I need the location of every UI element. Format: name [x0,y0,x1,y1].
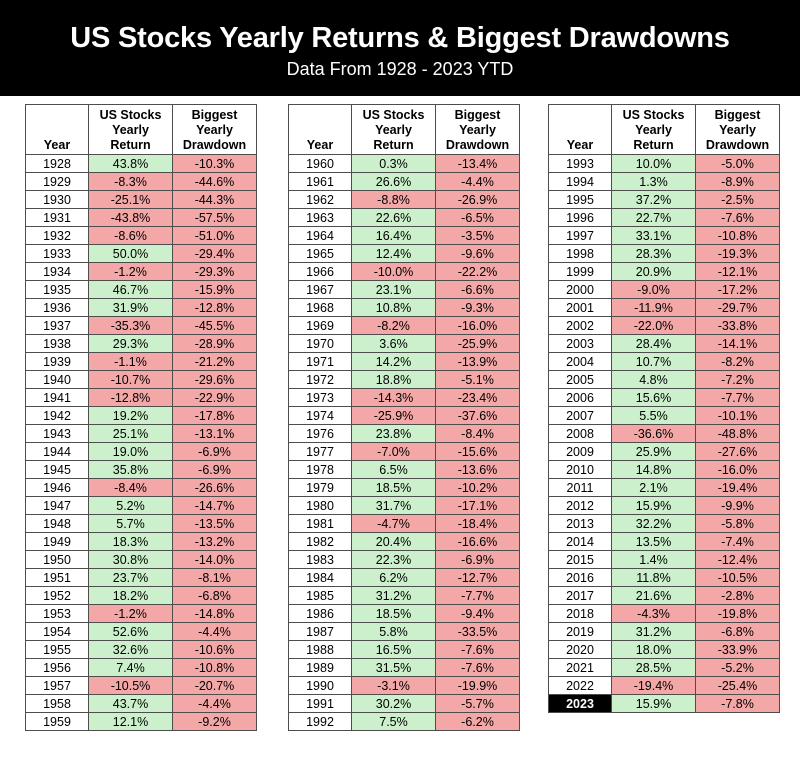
table-row: 19786.5%-13.6% [289,461,520,479]
table-row: 1932-8.6%-51.0% [26,227,257,245]
cell-yearly-return: -8.6% [89,227,173,245]
table-row: 20112.1%-19.4% [549,479,780,497]
cell-biggest-drawdown: -13.9% [436,353,520,371]
cell-year: 2005 [549,371,612,389]
cell-yearly-return: 43.8% [89,155,173,173]
table-row: 20151.4%-12.4% [549,551,780,569]
cell-yearly-return: 16.5% [352,641,436,659]
cell-year: 2013 [549,515,612,533]
table-row: 200925.9%-27.6% [549,443,780,461]
table-row: 1946-8.4%-26.6% [26,479,257,497]
cell-biggest-drawdown: -10.2% [436,479,520,497]
cell-biggest-drawdown: -6.8% [173,587,257,605]
cell-year: 1945 [26,461,89,479]
cell-biggest-drawdown: -12.4% [696,551,780,569]
column-header-biggest-drawdown: BiggestYearlyDrawdown [173,105,257,155]
table-row: 19941.3%-8.9% [549,173,780,191]
returns-table-3: YearUS StocksYearlyReturnBiggestYearlyDr… [548,104,780,713]
cell-biggest-drawdown: -5.0% [696,155,780,173]
cell-yearly-return: 32.2% [612,515,696,533]
cell-biggest-drawdown: -51.0% [173,227,257,245]
cell-year: 1965 [289,245,352,263]
cell-year: 1988 [289,641,352,659]
cell-biggest-drawdown: -8.1% [173,569,257,587]
cell-yearly-return: 31.7% [352,497,436,515]
cell-yearly-return: -3.1% [352,677,436,695]
cell-biggest-drawdown: -19.9% [436,677,520,695]
table-row: 195218.2%-6.8% [26,587,257,605]
cell-year: 2020 [549,641,612,659]
cell-yearly-return: 31.9% [89,299,173,317]
table-row: 19927.5%-6.2% [289,713,520,731]
cell-year: 1997 [549,227,612,245]
table-row: 196126.6%-4.4% [289,173,520,191]
cell-biggest-drawdown: -33.5% [436,623,520,641]
cell-year: 1985 [289,587,352,605]
column-header-yearly-return: US StocksYearlyReturn [89,105,173,155]
table-row: 193631.9%-12.8% [26,299,257,317]
cell-year: 1974 [289,407,352,425]
table-header-row: YearUS StocksYearlyReturnBiggestYearlyDr… [289,105,520,155]
cell-biggest-drawdown: -8.9% [696,173,780,191]
table-row: 1941-12.8%-22.9% [26,389,257,407]
cell-biggest-drawdown: -13.5% [173,515,257,533]
table-row: 197114.2%-13.9% [289,353,520,371]
cell-biggest-drawdown: -14.8% [173,605,257,623]
cell-yearly-return: 10.0% [612,155,696,173]
cell-yearly-return: -1.2% [89,605,173,623]
cell-year: 1972 [289,371,352,389]
cell-biggest-drawdown: -23.4% [436,389,520,407]
table-row: 195452.6%-4.4% [26,623,257,641]
cell-year: 1948 [26,515,89,533]
header-line-1: US Stocks [623,108,685,122]
header-line-2: Yearly [635,123,672,137]
cell-year: 1944 [26,443,89,461]
cell-biggest-drawdown: -10.8% [696,227,780,245]
table-row: 195123.7%-8.1% [26,569,257,587]
table-row: 201215.9%-9.9% [549,497,780,515]
cell-year: 1973 [289,389,352,407]
cell-yearly-return: 23.7% [89,569,173,587]
cell-yearly-return: 10.8% [352,299,436,317]
header-line-3: Drawdown [446,138,509,152]
cell-biggest-drawdown: -44.6% [173,173,257,191]
cell-yearly-return: 18.3% [89,533,173,551]
table-row: 194918.3%-13.2% [26,533,257,551]
table-row: 195912.1%-9.2% [26,713,257,731]
cell-biggest-drawdown: -10.1% [696,407,780,425]
cell-biggest-drawdown: -13.6% [436,461,520,479]
table-row: 2018-4.3%-19.8% [549,605,780,623]
cell-yearly-return: 5.2% [89,497,173,515]
returns-table-1: YearUS StocksYearlyReturnBiggestYearlyDr… [25,104,257,731]
cell-yearly-return: 33.1% [612,227,696,245]
cell-yearly-return: 0.3% [352,155,436,173]
cell-biggest-drawdown: -16.0% [436,317,520,335]
table-row: 19846.2%-12.7% [289,569,520,587]
table-row: 19485.7%-13.5% [26,515,257,533]
table-row: 1973-14.3%-23.4% [289,389,520,407]
table-row: 199622.7%-7.6% [549,209,780,227]
cell-year: 1959 [26,713,89,731]
table-row: 201721.6%-2.8% [549,587,780,605]
header-banner: US Stocks Yearly Returns & Biggest Drawd… [0,0,800,96]
cell-yearly-return: 25.1% [89,425,173,443]
cell-biggest-drawdown: -3.5% [436,227,520,245]
cell-yearly-return: 22.7% [612,209,696,227]
cell-yearly-return: 26.6% [352,173,436,191]
cell-yearly-return: 52.6% [89,623,173,641]
table-row: 198531.2%-7.7% [289,587,520,605]
table-row: 199828.3%-19.3% [549,245,780,263]
table-row: 2002-22.0%-33.8% [549,317,780,335]
table-header-row: YearUS StocksYearlyReturnBiggestYearlyDr… [26,105,257,155]
cell-year: 1943 [26,425,89,443]
cell-yearly-return: 1.3% [612,173,696,191]
table-row: 1940-10.7%-29.6% [26,371,257,389]
cell-biggest-drawdown: -5.1% [436,371,520,389]
table-row: 194535.8%-6.9% [26,461,257,479]
table-row: 1953-1.2%-14.8% [26,605,257,623]
cell-yearly-return: 25.9% [612,443,696,461]
cell-yearly-return: -8.2% [352,317,436,335]
cell-yearly-return: 31.5% [352,659,436,677]
cell-yearly-return: 20.9% [612,263,696,281]
cell-yearly-return: 21.6% [612,587,696,605]
table-row: 195843.7%-4.4% [26,695,257,713]
cell-year: 1960 [289,155,352,173]
cell-year: 1934 [26,263,89,281]
cell-year: 1984 [289,569,352,587]
cell-year: 2009 [549,443,612,461]
table-row: 201931.2%-6.8% [549,623,780,641]
cell-biggest-drawdown: -14.7% [173,497,257,515]
cell-year: 1982 [289,533,352,551]
cell-year: 2002 [549,317,612,335]
cell-biggest-drawdown: -9.6% [436,245,520,263]
cell-yearly-return: 18.0% [612,641,696,659]
cell-biggest-drawdown: -9.2% [173,713,257,731]
cell-year: 1983 [289,551,352,569]
header-line-3: Return [633,138,673,152]
cell-year: 1941 [26,389,89,407]
cell-yearly-return: 31.2% [352,587,436,605]
cell-yearly-return: -10.0% [352,263,436,281]
cell-biggest-drawdown: -17.8% [173,407,257,425]
cell-year: 1990 [289,677,352,695]
column-header-biggest-drawdown: BiggestYearlyDrawdown [436,105,520,155]
cell-yearly-return: 5.5% [612,407,696,425]
cell-yearly-return: 6.2% [352,569,436,587]
table-row: 1931-43.8%-57.5% [26,209,257,227]
table-row: 19703.6%-25.9% [289,335,520,353]
cell-year: 2004 [549,353,612,371]
cell-year: 1949 [26,533,89,551]
cell-year: 2007 [549,407,612,425]
cell-biggest-drawdown: -26.6% [173,479,257,497]
cell-biggest-drawdown: -16.6% [436,533,520,551]
cell-biggest-drawdown: -8.4% [436,425,520,443]
cell-year: 1936 [26,299,89,317]
cell-yearly-return: 28.5% [612,659,696,677]
cell-yearly-return: 22.6% [352,209,436,227]
table-row: 193546.7%-15.9% [26,281,257,299]
cell-year: 1978 [289,461,352,479]
cell-year: 2012 [549,497,612,515]
table-row: 19567.4%-10.8% [26,659,257,677]
cell-biggest-drawdown: -6.6% [436,281,520,299]
cell-yearly-return: 43.7% [89,695,173,713]
cell-biggest-drawdown: -10.8% [173,659,257,677]
cell-yearly-return: -14.3% [352,389,436,407]
table-row: 2008-36.6%-48.8% [549,425,780,443]
table-row: 198618.5%-9.4% [289,605,520,623]
table-row: 19875.8%-33.5% [289,623,520,641]
table-row: 196810.8%-9.3% [289,299,520,317]
table-row: 193829.3%-28.9% [26,335,257,353]
cell-year: 1971 [289,353,352,371]
header-line-1: Biggest [192,108,238,122]
header-line-2: Yearly [196,123,233,137]
cell-biggest-drawdown: -7.6% [436,641,520,659]
cell-biggest-drawdown: -17.2% [696,281,780,299]
cell-yearly-return: -36.6% [612,425,696,443]
table-row: 196416.4%-3.5% [289,227,520,245]
cell-year: 1987 [289,623,352,641]
cell-biggest-drawdown: -15.9% [173,281,257,299]
table-row: 197218.8%-5.1% [289,371,520,389]
cell-year: 2003 [549,335,612,353]
cell-biggest-drawdown: -13.2% [173,533,257,551]
cell-biggest-drawdown: -6.9% [173,443,257,461]
cell-year: 1937 [26,317,89,335]
cell-yearly-return: 22.3% [352,551,436,569]
cell-yearly-return: 30.8% [89,551,173,569]
cell-biggest-drawdown: -28.9% [173,335,257,353]
cell-year: 1981 [289,515,352,533]
cell-biggest-drawdown: -10.6% [173,641,257,659]
cell-yearly-return: 18.5% [352,605,436,623]
cell-year: 2015 [549,551,612,569]
table-row: 194419.0%-6.9% [26,443,257,461]
cell-yearly-return: 37.2% [612,191,696,209]
cell-yearly-return: -35.3% [89,317,173,335]
cell-biggest-drawdown: -13.4% [436,155,520,173]
table-row: 1974-25.9%-37.6% [289,407,520,425]
cell-yearly-return: 28.4% [612,335,696,353]
cell-biggest-drawdown: -7.6% [696,209,780,227]
table-row: 201611.8%-10.5% [549,569,780,587]
cell-year: 1929 [26,173,89,191]
table-row: 20054.8%-7.2% [549,371,780,389]
cell-year: 1953 [26,605,89,623]
cell-biggest-drawdown: -29.7% [696,299,780,317]
cell-biggest-drawdown: -29.4% [173,245,257,263]
cell-year: 1993 [549,155,612,173]
header-line-1: US Stocks [363,108,425,122]
table-row: 1930-25.1%-44.3% [26,191,257,209]
cell-yearly-return: 15.9% [612,497,696,515]
cell-year: 1996 [549,209,612,227]
table-row: 198322.3%-6.9% [289,551,520,569]
cell-year: 1961 [289,173,352,191]
cell-yearly-return: 18.5% [352,479,436,497]
table-row: 198931.5%-7.6% [289,659,520,677]
cell-biggest-drawdown: -27.6% [696,443,780,461]
table-row: 198220.4%-16.6% [289,533,520,551]
page-subtitle: Data From 1928 - 2023 YTD [287,60,514,79]
cell-year: 2010 [549,461,612,479]
cell-year: 2000 [549,281,612,299]
cell-yearly-return: -9.0% [612,281,696,299]
cell-biggest-drawdown: -19.4% [696,479,780,497]
table-row: 192843.8%-10.3% [26,155,257,173]
cell-year: 2008 [549,425,612,443]
table-row: 201413.5%-7.4% [549,533,780,551]
cell-biggest-drawdown: -17.1% [436,497,520,515]
cell-year: 1999 [549,263,612,281]
cell-biggest-drawdown: -7.6% [436,659,520,677]
table-row: 1939-1.1%-21.2% [26,353,257,371]
cell-biggest-drawdown: -12.7% [436,569,520,587]
table-row: 2001-11.9%-29.7% [549,299,780,317]
cell-biggest-drawdown: -16.0% [696,461,780,479]
cell-biggest-drawdown: -13.1% [173,425,257,443]
cell-year: 1931 [26,209,89,227]
cell-yearly-return: -1.1% [89,353,173,371]
cell-yearly-return: -4.3% [612,605,696,623]
cell-year: 1986 [289,605,352,623]
cell-yearly-return: 31.2% [612,623,696,641]
cell-biggest-drawdown: -29.6% [173,371,257,389]
cell-yearly-return: -25.1% [89,191,173,209]
cell-yearly-return: 18.2% [89,587,173,605]
cell-year: 1976 [289,425,352,443]
cell-yearly-return: 5.7% [89,515,173,533]
cell-year: 1928 [26,155,89,173]
cell-yearly-return: 46.7% [89,281,173,299]
cell-biggest-drawdown: -4.4% [173,695,257,713]
cell-biggest-drawdown: -6.9% [173,461,257,479]
table-row: 199130.2%-5.7% [289,695,520,713]
table-row: 1929-8.3%-44.6% [26,173,257,191]
cell-biggest-drawdown: -22.2% [436,263,520,281]
cell-yearly-return: 35.8% [89,461,173,479]
cell-biggest-drawdown: -44.3% [173,191,257,209]
cell-biggest-drawdown: -7.4% [696,533,780,551]
table-row: 195030.8%-14.0% [26,551,257,569]
cell-year: 1991 [289,695,352,713]
cell-year: 1968 [289,299,352,317]
cell-biggest-drawdown: -7.7% [436,587,520,605]
cell-yearly-return: -8.3% [89,173,173,191]
cell-yearly-return: 14.2% [352,353,436,371]
cell-yearly-return: 11.8% [612,569,696,587]
cell-yearly-return: 23.1% [352,281,436,299]
cell-yearly-return: -8.8% [352,191,436,209]
cell-biggest-drawdown: -15.6% [436,443,520,461]
cell-biggest-drawdown: -29.3% [173,263,257,281]
cell-year: 1956 [26,659,89,677]
cell-biggest-drawdown: -4.4% [436,173,520,191]
table-row: 1934-1.2%-29.3% [26,263,257,281]
table-row: 19475.2%-14.7% [26,497,257,515]
table-row: 1990-3.1%-19.9% [289,677,520,695]
cell-biggest-drawdown: -12.1% [696,263,780,281]
table-row: 199920.9%-12.1% [549,263,780,281]
cell-yearly-return: 6.5% [352,461,436,479]
cell-yearly-return: 3.6% [352,335,436,353]
cell-year: 1938 [26,335,89,353]
cell-year: 1979 [289,479,352,497]
cell-year: 1940 [26,371,89,389]
cell-biggest-drawdown: -7.2% [696,371,780,389]
column-header-yearly-return: US StocksYearlyReturn [352,105,436,155]
cell-yearly-return: 13.5% [612,533,696,551]
cell-year: 1930 [26,191,89,209]
table-row: 194325.1%-13.1% [26,425,257,443]
table-row: 197623.8%-8.4% [289,425,520,443]
cell-year: 1952 [26,587,89,605]
cell-year: 1970 [289,335,352,353]
cell-year: 2006 [549,389,612,407]
cell-year: 1964 [289,227,352,245]
table-row: 198031.7%-17.1% [289,497,520,515]
table-row: 1977-7.0%-15.6% [289,443,520,461]
cell-biggest-drawdown: -45.5% [173,317,257,335]
cell-yearly-return: -43.8% [89,209,173,227]
header-line-3: Return [110,138,150,152]
page-title: US Stocks Yearly Returns & Biggest Drawd… [70,23,729,53]
header-line-1: US Stocks [100,108,162,122]
cell-year: 1995 [549,191,612,209]
table-row: 20075.5%-10.1% [549,407,780,425]
cell-yearly-return: 2.1% [612,479,696,497]
cell-year: 2022 [549,677,612,695]
cell-biggest-drawdown: -19.8% [696,605,780,623]
cell-biggest-drawdown: -5.7% [436,695,520,713]
table-row: 199537.2%-2.5% [549,191,780,209]
cell-yearly-return: -22.0% [612,317,696,335]
table-row: 197918.5%-10.2% [289,479,520,497]
column-header-year: Year [26,105,89,155]
cell-biggest-drawdown: -6.2% [436,713,520,731]
cell-yearly-return: 14.8% [612,461,696,479]
table-row: 202128.5%-5.2% [549,659,780,677]
cell-biggest-drawdown: -22.9% [173,389,257,407]
cell-biggest-drawdown: -6.8% [696,623,780,641]
table-row: 198816.5%-7.6% [289,641,520,659]
cell-biggest-drawdown: -48.8% [696,425,780,443]
cell-year: 1947 [26,497,89,515]
table-row: 199733.1%-10.8% [549,227,780,245]
cell-year: 1935 [26,281,89,299]
cell-biggest-drawdown: -4.4% [173,623,257,641]
cell-year: 1933 [26,245,89,263]
cell-biggest-drawdown: -2.5% [696,191,780,209]
cell-biggest-drawdown: -33.8% [696,317,780,335]
cell-biggest-drawdown: -21.2% [173,353,257,371]
cell-yearly-return: 7.5% [352,713,436,731]
header-line-2: Yearly [719,123,756,137]
cell-biggest-drawdown: -7.7% [696,389,780,407]
header-line-1: Biggest [715,108,761,122]
cell-biggest-drawdown: -25.4% [696,677,780,695]
cell-yearly-return: 10.7% [612,353,696,371]
cell-year: 1957 [26,677,89,695]
cell-biggest-drawdown: -2.8% [696,587,780,605]
